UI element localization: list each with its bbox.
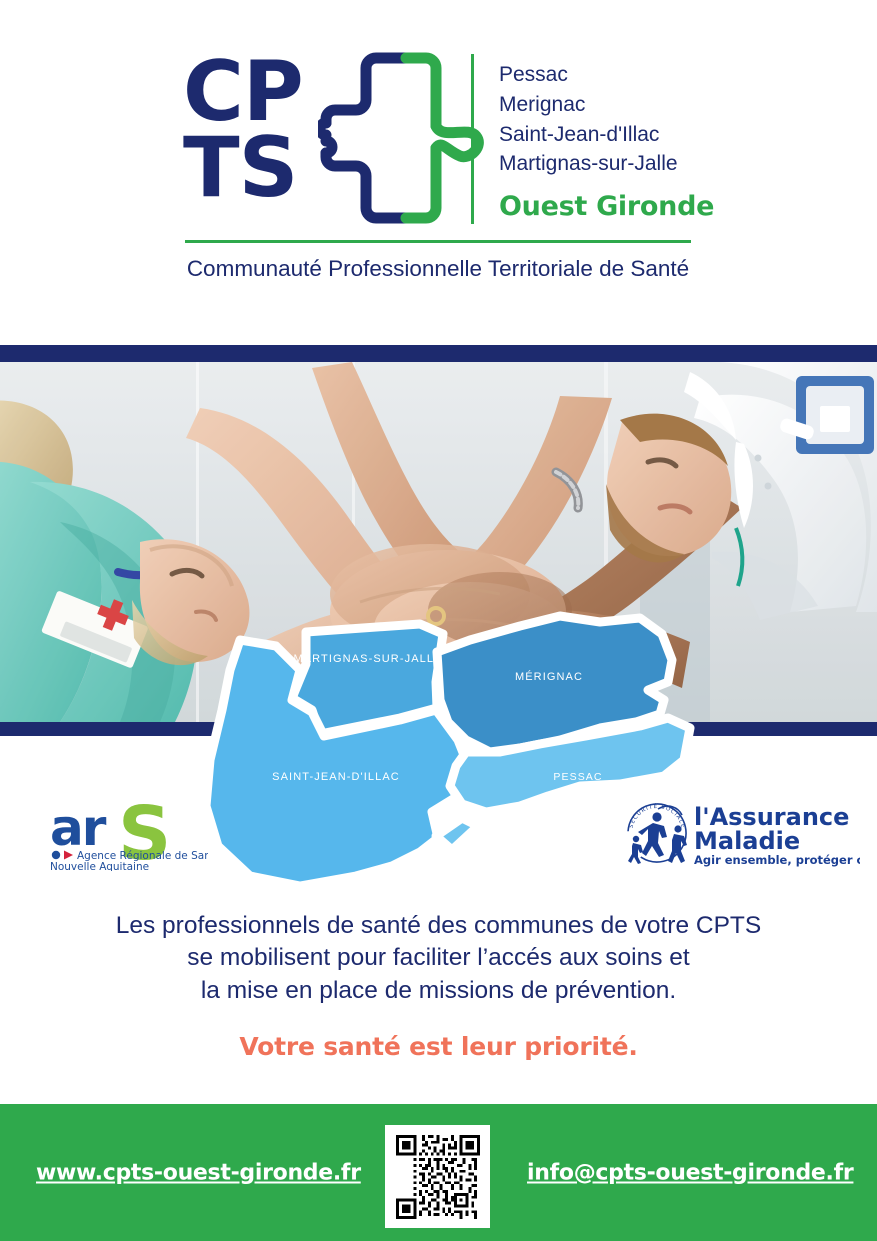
- cpts-logo: CP TS: [183, 48, 693, 293]
- hero-top-band: [0, 345, 877, 362]
- logo-divider: [471, 54, 474, 224]
- logo-city-item: Saint-Jean-d'Illac: [499, 120, 719, 150]
- am-line2: Maladie: [694, 827, 800, 855]
- email-link[interactable]: info@cpts-ouest-gironde.fr: [527, 1160, 853, 1185]
- map-label-saint-jean-dillac: SAINT-JEAN-D'ILLAC: [272, 771, 400, 783]
- message-line-1: Les professionnels de santé des communes…: [60, 910, 817, 942]
- message-block: Les professionnels de santé des communes…: [60, 910, 817, 1007]
- logo-region: Ouest Gironde: [499, 191, 714, 222]
- logo-acronym: CP TS: [183, 54, 303, 207]
- partner-logo-ars: ar S Agence Régionale de Santé Nouvelle …: [48, 793, 208, 871]
- priority-slogan: Votre santé est leur priorité.: [60, 1032, 817, 1061]
- qr-code[interactable]: [385, 1125, 490, 1228]
- logo-city-item: Martignas-sur-Jalle: [499, 149, 719, 179]
- logo-city-item: Merignac: [499, 90, 719, 120]
- logo-acronym-line2: TS: [183, 130, 303, 206]
- logo-city-list: Pessac Merignac Saint-Jean-d'Illac Marti…: [499, 60, 719, 179]
- territory-map: MARTIGNAS-SUR-JALLE MÉRIGNAC SAINT-JEAN-…: [0, 600, 877, 930]
- partner-logo-assurance-maladie: SÉCURITÉ SOCIALE l'Assurance Maladie Agi: [620, 795, 860, 870]
- map-label-martignas-sur-jalle: MARTIGNAS-SUR-JALLE: [293, 653, 442, 665]
- am-slogan: Agir ensemble, protéger chacun: [694, 853, 860, 867]
- header: CP TS: [0, 0, 877, 345]
- map-label-merignac: MÉRIGNAC: [515, 670, 583, 683]
- map-region-illac-tail: [436, 818, 478, 850]
- website-link[interactable]: www.cpts-ouest-gironde.fr: [36, 1160, 361, 1185]
- message-line-3: la mise en place de missions de préventi…: [60, 975, 817, 1007]
- ars-line2: Nouvelle Aquitaine: [50, 861, 149, 871]
- logo-tagline: Communauté Professionnelle Territoriale …: [183, 256, 693, 282]
- logo-city-item: Pessac: [499, 60, 719, 90]
- map-label-pessac: PESSAC: [553, 771, 602, 783]
- svg-text:ar: ar: [50, 799, 107, 857]
- message-line-2: se mobilisent pour faciliter l’accés aux…: [60, 942, 817, 974]
- cpts-stethoscope-mark-icon: [318, 48, 493, 228]
- logo-rule: [185, 240, 691, 243]
